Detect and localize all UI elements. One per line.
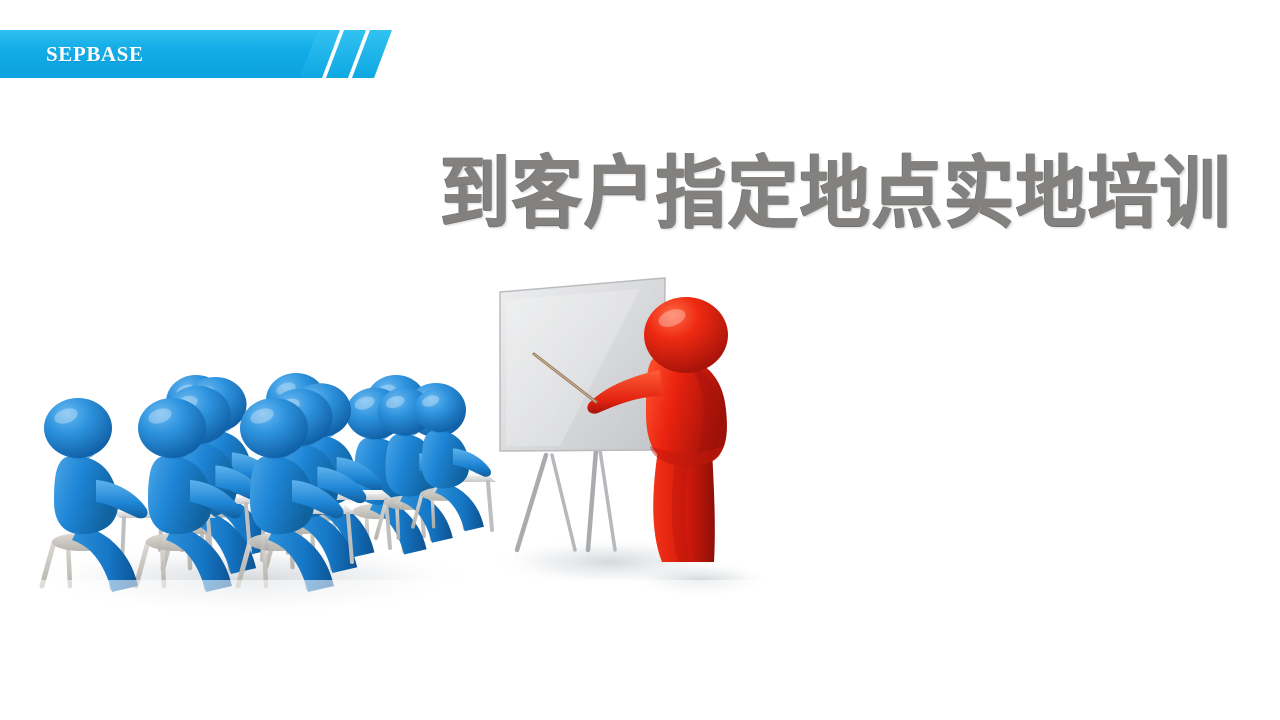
illustration-artwork [0,250,1280,650]
training-illustration [0,250,1280,650]
brand-banner: SEPBASE [0,30,395,78]
brand-name-label: SEPBASE [46,30,144,78]
presenter-head [644,297,728,373]
whiteboard-easel [500,278,665,550]
slide-title: 到客户指定地点实地培训 [440,145,1180,241]
floor-fade [0,580,1280,650]
slide-canvas: SEPBASE 到客户指定地点实地培训 [0,0,1280,720]
easel-legs [517,450,615,550]
